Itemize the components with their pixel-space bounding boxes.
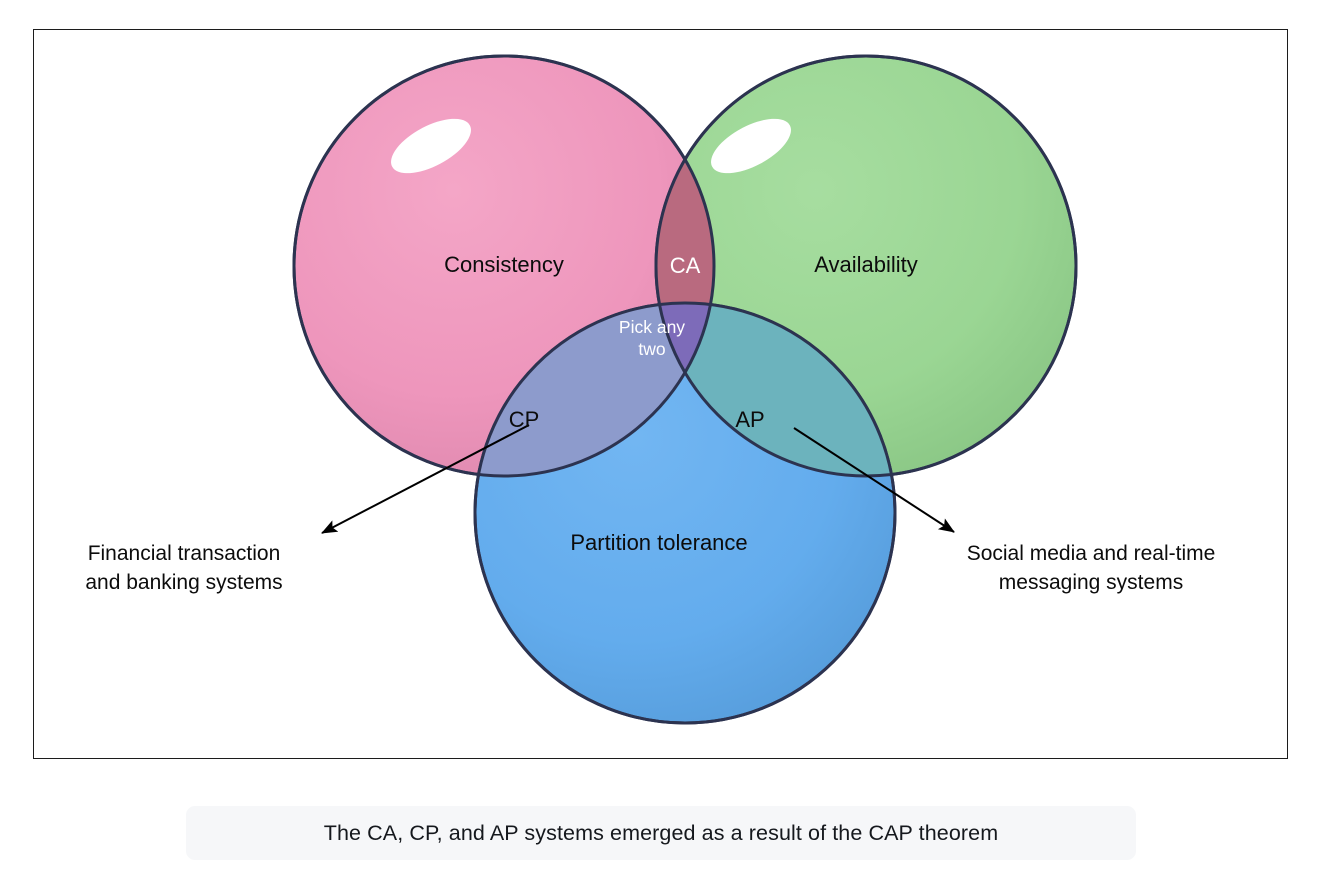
- caption-bar: The CA, CP, and AP systems emerged as a …: [186, 806, 1136, 860]
- label-center-line1: Pick any: [619, 317, 685, 337]
- ap-callout-line1: Social media and real-time: [967, 542, 1216, 565]
- caption-text: The CA, CP, and AP systems emerged as a …: [324, 821, 999, 846]
- diagram-page: Consistency Availability Partition toler…: [0, 0, 1322, 890]
- label-center-line2: two: [638, 339, 665, 359]
- cp-callout-line2: and banking systems: [85, 571, 282, 594]
- label-consistency: Consistency: [444, 252, 564, 277]
- diagram-frame: Consistency Availability Partition toler…: [33, 29, 1288, 759]
- label-overlap-cp: CP: [509, 407, 540, 432]
- label-overlap-ap: AP: [735, 407, 764, 432]
- cp-callout-line1: Financial transaction: [88, 542, 281, 565]
- label-partition-tolerance: Partition tolerance: [570, 530, 747, 555]
- ap-callout-line2: messaging systems: [999, 571, 1183, 594]
- label-availability: Availability: [814, 252, 918, 277]
- label-overlap-ca: CA: [670, 253, 701, 278]
- cap-theorem-venn-diagram: Consistency Availability Partition toler…: [34, 30, 1289, 760]
